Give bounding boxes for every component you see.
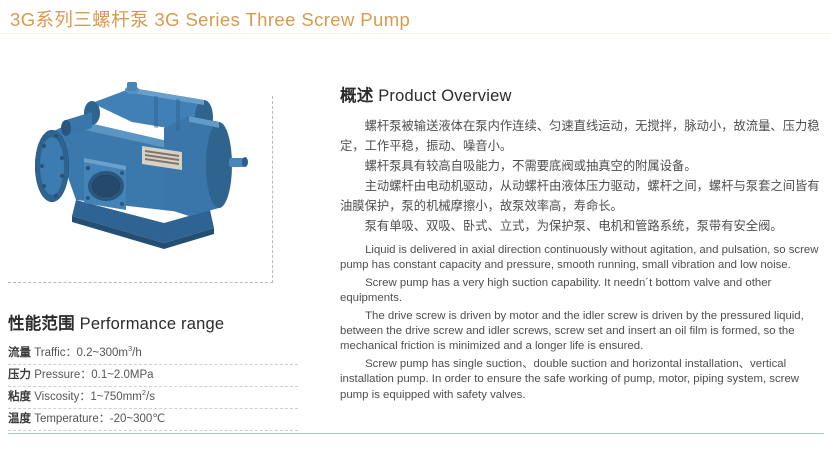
performance-label-en-traffic: Traffic xyxy=(34,347,65,359)
left-column: 性能范围 Performance range 流量 Traffic：0.2~30… xyxy=(0,40,300,420)
page-title: 3G系列三螺杆泵 3G Series Three Screw Pump xyxy=(10,6,410,32)
overview-en-paragraph-2: Screw pump has a very high suction capab… xyxy=(340,276,824,307)
performance-unit-tail-traffic: /h xyxy=(132,347,142,359)
performance-range-heading-en: Performance range xyxy=(80,315,225,333)
overview-cn-paragraph-1: 螺杆泵被输送液体在泵内作连续、匀速直线运动，无搅拌，脉动小，故流量、压力稳定，工… xyxy=(340,116,824,156)
performance-value-pressure: 0.1~2.0MPa xyxy=(91,369,153,381)
product-image xyxy=(14,58,264,273)
product-overview-heading-cn: 概述 xyxy=(340,87,373,105)
product-overview-section: 概述 Product Overview 螺杆泵被输送液体在泵内作连续、匀速直线运… xyxy=(340,82,824,405)
performance-unit-tail-viscosity: /s xyxy=(146,391,155,403)
product-overview-heading: 概述 Product Overview xyxy=(340,82,824,106)
performance-label-en-pressure: Pressure xyxy=(34,369,80,381)
performance-row-temperature: 温度 Temperature：-20~300℃ xyxy=(8,409,298,431)
performance-sep-pressure: ： xyxy=(80,369,91,381)
page-bottom-divider xyxy=(8,433,824,434)
performance-label-cn-viscosity: 粘度 xyxy=(8,391,31,403)
performance-sep-temperature: ： xyxy=(99,413,110,425)
performance-label-cn-traffic: 流量 xyxy=(8,347,31,359)
overview-en-paragraph-4: Screw pump has single suction、double suc… xyxy=(340,357,824,403)
performance-label-cn-pressure: 压力 xyxy=(8,369,31,381)
overview-cn-paragraph-4: 泵有单吸、双吸、卧式、立式，为保护泵、电机和管路系统，泵带有安全阀。 xyxy=(340,216,824,236)
performance-range-heading: 性能范围 Performance range xyxy=(8,310,298,334)
overview-english-body: Liquid is delivered in axial direction c… xyxy=(340,243,824,403)
performance-sep-viscosity: ： xyxy=(79,391,90,403)
overview-en-paragraph-3: The drive screw is driven by motor and t… xyxy=(340,309,824,355)
performance-sep-traffic: ： xyxy=(66,347,77,359)
figure-divider-horizontal xyxy=(8,282,273,283)
product-overview-heading-en: Product Overview xyxy=(378,87,511,105)
title-divider xyxy=(0,33,830,34)
performance-label-cn-temperature: 温度 xyxy=(8,413,31,425)
overview-cn-paragraph-2: 螺杆泵具有较高自吸能力，不需要底阀或抽真空的附属设备。 xyxy=(340,156,824,176)
overview-chinese-body: 螺杆泵被输送液体在泵内作连续、匀速直线运动，无搅拌，脉动小，故流量、压力稳定，工… xyxy=(340,116,824,236)
performance-row-pressure: 压力 Pressure：0.1~2.0MPa xyxy=(8,365,298,387)
performance-label-en-temperature: Temperature xyxy=(34,413,99,425)
performance-row-viscosity: 粘度 Viscosity：1~750mm2/s xyxy=(8,387,298,409)
overview-cn-paragraph-3: 主动螺杆由电动机驱动，从动螺杆由液体压力驱动，螺杆之间，螺杆与泵套之间皆有油膜保… xyxy=(340,176,824,216)
performance-range-section: 性能范围 Performance range 流量 Traffic：0.2~30… xyxy=(8,310,298,431)
performance-row-traffic: 流量 Traffic：0.2~300m3/h xyxy=(8,343,298,365)
performance-range-heading-cn: 性能范围 xyxy=(8,315,75,333)
overview-en-paragraph-1: Liquid is delivered in axial direction c… xyxy=(340,243,824,274)
figure-divider-vertical xyxy=(272,96,273,283)
performance-value-temperature: -20~300℃ xyxy=(110,413,165,425)
performance-range-list: 流量 Traffic：0.2~300m3/h 压力 Pressure：0.1~2… xyxy=(8,343,298,431)
performance-value-viscosity: 1~750mm xyxy=(90,391,141,403)
screw-pump-illustration xyxy=(14,58,264,273)
performance-value-traffic: 0.2~300m xyxy=(77,347,128,359)
performance-label-en-viscosity: Viscosity xyxy=(34,391,79,403)
